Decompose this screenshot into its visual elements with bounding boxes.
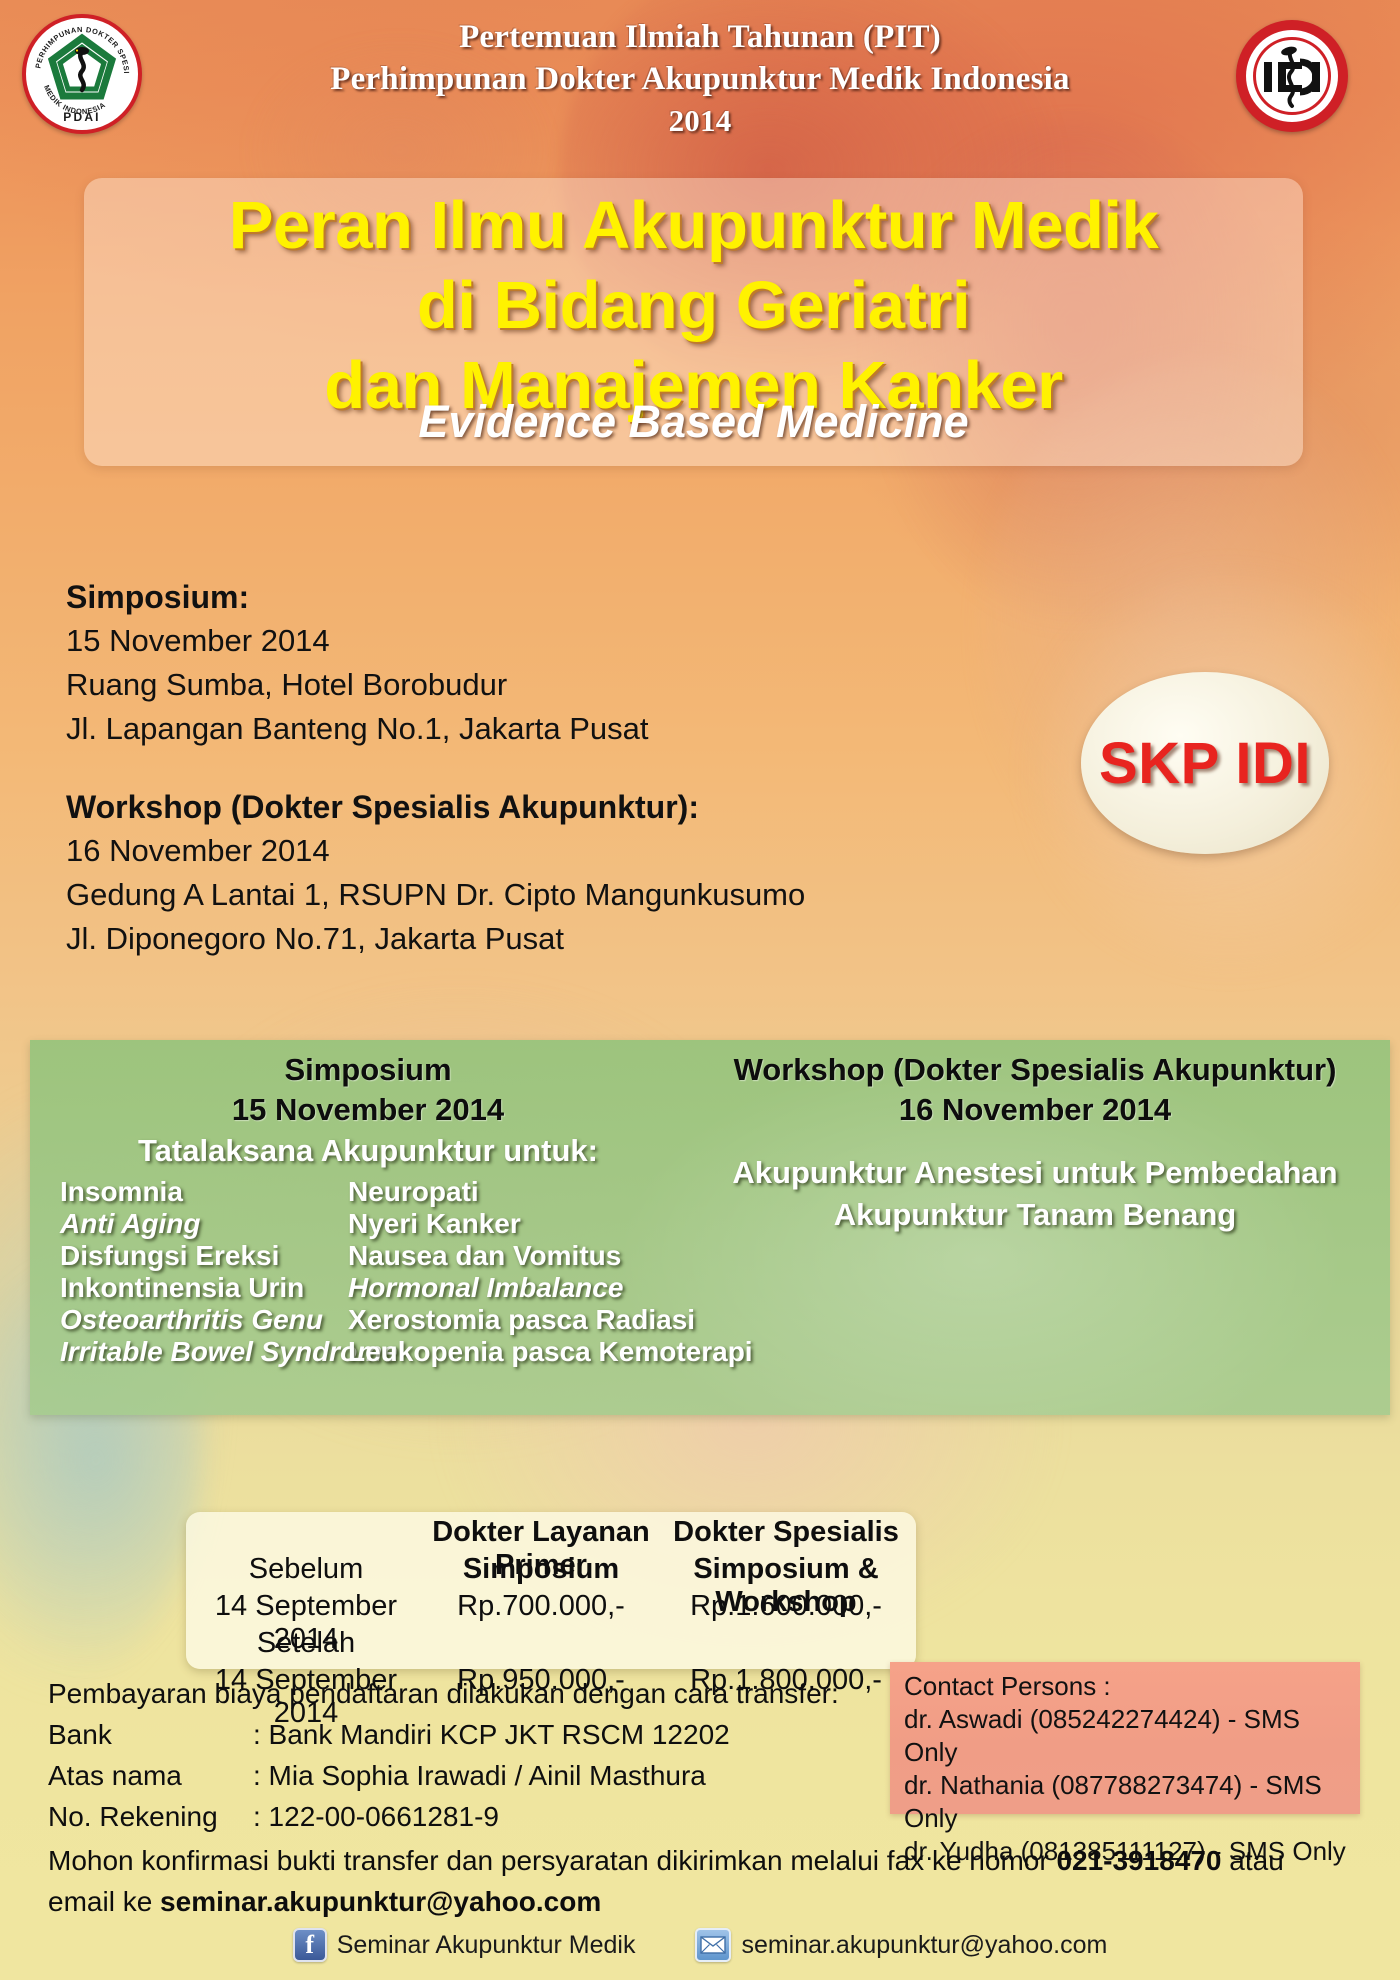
program-simposium-date: 15 November 2014	[48, 1090, 688, 1130]
program-topic: Inkontinensia Urin	[60, 1272, 360, 1304]
payment-account-value: : 122-00-0661281-9	[253, 1796, 888, 1837]
header-line-1: Pertemuan Ilmiah Tahunan (PIT)	[160, 16, 1240, 58]
svg-text:PDAI: PDAI	[63, 110, 100, 124]
pdai-logo: PERHIMPUNAN DOKTER SPESIALIS AKUPUNKTUR …	[22, 14, 142, 134]
envelope-glyph	[700, 1936, 726, 1954]
footer-social: f Seminar Akupunktur Medik seminar.akupu…	[0, 1928, 1400, 1962]
confirmation-line-2: email ke seminar.akupunktur@yahoo.com	[48, 1881, 1348, 1922]
header-title: Pertemuan Ilmiah Tahunan (PIT) Perhimpun…	[160, 16, 1240, 142]
payment-name-row: Atas nama : Mia Sophia Irawadi / Ainil M…	[48, 1755, 888, 1796]
contact-persons-box: Contact Persons : dr. Aswadi (0852422744…	[890, 1662, 1360, 1814]
header-line-3: 2014	[160, 100, 1240, 142]
facebook-label: Seminar Akupunktur Medik	[337, 1931, 636, 1960]
payment-intro: Pembayaran biaya pendaftaran dilakukan d…	[48, 1673, 888, 1714]
program-topics-left: Insomnia Anti Aging Disfungsi Ereksi Ink…	[60, 1176, 360, 1368]
poster-subtitle: Evidence Based Medicine	[84, 396, 1303, 448]
program-workshop-item: Akupunktur Anestesi untuk Pembedahan	[690, 1152, 1380, 1194]
event-poster: PERHIMPUNAN DOKTER SPESIALIS AKUPUNKTUR …	[0, 0, 1400, 1980]
pricing-setelah-row: Setelah	[186, 1627, 916, 1664]
program-topic: Nyeri Kanker	[348, 1208, 748, 1240]
confirmation-note: Mohon konfirmasi bukti transfer dan pers…	[48, 1840, 1348, 1922]
program-topic: Hormonal Imbalance	[348, 1272, 748, 1304]
program-topic: Osteoarthritis Genu	[60, 1304, 360, 1336]
program-topic: Neuropati	[348, 1176, 748, 1208]
envelope-icon[interactable]	[695, 1928, 731, 1962]
title-line-1: Peran Ilmu Akupunktur Medik	[84, 186, 1303, 266]
program-topic: Insomnia	[60, 1176, 360, 1208]
payment-name-value: : Mia Sophia Irawadi / Ainil Masthura	[253, 1755, 888, 1796]
pricing-setelah-label: Setelah	[186, 1627, 426, 1660]
contact-item: dr. Aswadi (085242274424) - SMS Only	[904, 1703, 1348, 1769]
payment-name-label: Atas nama	[48, 1755, 253, 1796]
pricing-header-primer-2: Simposium	[426, 1553, 656, 1586]
pricing-header-spesialis-1: Dokter Spesialis	[656, 1516, 916, 1549]
skp-idi-badge: SKP IDI	[1081, 672, 1329, 854]
payment-bank-label: Bank	[48, 1714, 253, 1755]
facebook-icon[interactable]: f	[293, 1928, 327, 1962]
program-topic-columns: Insomnia Anti Aging Disfungsi Ereksi Ink…	[48, 1176, 688, 1376]
pricing-header-row-2: Sebelum Simposium Simposium & Workshop	[186, 1553, 916, 1590]
simposium-heading: Simposium:	[66, 575, 966, 619]
email-link[interactable]: seminar.akupunktur@yahoo.com	[695, 1928, 1107, 1962]
workshop-venue: Gedung A Lantai 1, RSUPN Dr. Cipto Mangu…	[66, 873, 966, 917]
workshop-address: Jl. Diponegoro No.71, Jakarta Pusat	[66, 917, 966, 961]
confirm-text-3: email ke	[48, 1886, 160, 1917]
payment-bank-value: : Bank Mandiri KCP JKT RSCM 12202	[253, 1714, 888, 1755]
program-workshop-items: Akupunktur Anestesi untuk Pembedahan Aku…	[690, 1152, 1380, 1236]
confirm-text-1: Mohon konfirmasi bukti transfer dan pers…	[48, 1845, 1056, 1876]
payment-info: Pembayaran biaya pendaftaran dilakukan d…	[48, 1673, 888, 1837]
pricing-spesialis-early: Rp.1.600.000,-	[656, 1590, 916, 1623]
program-topic: Xerostomia pasca Radiasi	[348, 1304, 748, 1336]
program-simposium-column: Simposium 15 November 2014 Tatalaksana A…	[48, 1050, 688, 1376]
skp-idi-label: SKP IDI	[1099, 730, 1311, 797]
simposium-address: Jl. Lapangan Banteng No.1, Jakarta Pusat	[66, 707, 966, 751]
program-workshop-heading: Workshop (Dokter Spesialis Akupunktur)	[690, 1050, 1380, 1090]
pricing-header-row-1: Dokter Layanan Primer Dokter Spesialis	[186, 1516, 916, 1553]
pricing-primer-early: Rp.700.000,-	[426, 1590, 656, 1623]
program-topic: Nausea dan Vomitus	[348, 1240, 748, 1272]
event-details: Simposium: 15 November 2014 Ruang Sumba,…	[66, 575, 966, 961]
pricing-header-sebelum: Sebelum	[186, 1553, 426, 1586]
contact-item: dr. Nathania (087788273474) - SMS Only	[904, 1769, 1348, 1835]
program-topic: Anti Aging	[60, 1208, 360, 1240]
program-simposium-heading: Simposium	[48, 1050, 688, 1090]
idi-logo-graphic	[1258, 42, 1326, 110]
payment-bank-row: Bank : Bank Mandiri KCP JKT RSCM 12202	[48, 1714, 888, 1755]
program-workshop-date: 16 November 2014	[690, 1090, 1380, 1130]
facebook-link[interactable]: f Seminar Akupunktur Medik	[293, 1928, 636, 1962]
confirm-text-2: atau	[1221, 1845, 1283, 1876]
payment-account-label: No. Rekening	[48, 1796, 253, 1837]
workshop-heading: Workshop (Dokter Spesialis Akupunktur):	[66, 785, 966, 829]
confirm-email: seminar.akupunktur@yahoo.com	[160, 1886, 601, 1917]
pdai-logo-graphic: PERHIMPUNAN DOKTER SPESIALIS AKUPUNKTUR …	[26, 18, 138, 130]
program-topics-right: Neuropati Nyeri Kanker Nausea dan Vomitu…	[348, 1176, 748, 1368]
program-topic: Disfungsi Ereksi	[60, 1240, 360, 1272]
confirmation-line-1: Mohon konfirmasi bukti transfer dan pers…	[48, 1840, 1348, 1881]
idi-logo	[1236, 20, 1348, 132]
simposium-date: 15 November 2014	[66, 619, 966, 663]
simposium-venue: Ruang Sumba, Hotel Borobudur	[66, 663, 966, 707]
header-line-2: Perhimpunan Dokter Akupunktur Medik Indo…	[160, 58, 1240, 100]
email-label: seminar.akupunktur@yahoo.com	[741, 1931, 1107, 1960]
program-topic: Leukopenia pasca Kemoterapi	[348, 1336, 748, 1368]
program-topic: Irritable Bowel Syndrome	[60, 1336, 360, 1368]
program-panel: Simposium 15 November 2014 Tatalaksana A…	[30, 1040, 1390, 1415]
title-line-2: di Bidang Geriatri	[84, 266, 1303, 346]
program-workshop-item: Akupunktur Tanam Benang	[690, 1194, 1380, 1236]
pricing-row-early: 14 September 2014 Rp.700.000,- Rp.1.600.…	[186, 1590, 916, 1627]
contact-heading: Contact Persons :	[904, 1670, 1348, 1703]
program-simposium-subheading: Tatalaksana Akupunktur untuk:	[48, 1130, 688, 1172]
details-spacer	[66, 751, 966, 785]
program-workshop-column: Workshop (Dokter Spesialis Akupunktur) 1…	[690, 1050, 1380, 1236]
fax-number: 021-3918470	[1056, 1845, 1221, 1876]
workshop-date: 16 November 2014	[66, 829, 966, 873]
payment-account-row: No. Rekening : 122-00-0661281-9	[48, 1796, 888, 1837]
poster-title: Peran Ilmu Akupunktur Medik di Bidang Ge…	[84, 186, 1303, 426]
